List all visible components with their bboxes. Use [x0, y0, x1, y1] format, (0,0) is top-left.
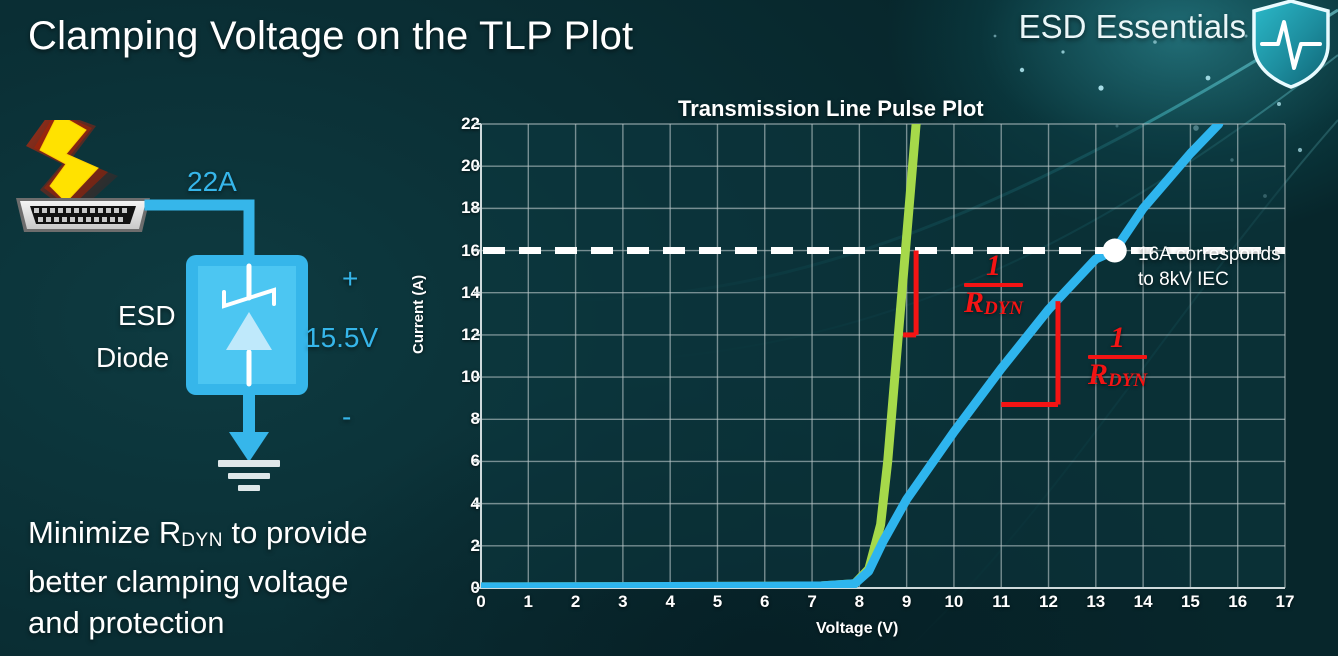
bullet-line3: and protection [28, 605, 224, 640]
slope1-den-sub: DYN [984, 298, 1023, 319]
bullet-line1-pre: Minimize R [28, 515, 181, 550]
page-title: Clamping Voltage on the TLP Plot [28, 14, 633, 59]
ground-symbol-icon [218, 460, 280, 491]
bullet-line1-post: to provide [223, 515, 368, 550]
polarity-plus-label: + [342, 263, 358, 295]
slope2-denominator: RDYN [1088, 360, 1147, 396]
chart-marker-dot [1103, 239, 1127, 263]
slide-canvas: Clamping Voltage on the TLP Plot ESD Ess… [0, 0, 1338, 656]
polarity-minus-label: - [342, 401, 351, 433]
slope1-numerator: 1 [964, 252, 1023, 280]
slope1-den-base: R [964, 286, 984, 319]
clamp-voltage-label: 15.5V [305, 322, 378, 354]
marker-note-line2: to 8kV IEC [1138, 269, 1229, 290]
brand-label: ESD Essentials [1019, 8, 1246, 46]
hdmi-connector-icon [16, 198, 150, 232]
device-label-line2: Diode [96, 342, 169, 374]
slope-annotation-2: 1 RDYN [1088, 324, 1147, 396]
slope-annotation-1: 1 RDYN [964, 252, 1023, 324]
esd-circuit-diagram: 22A ESD Diode 15.5V + - [0, 120, 420, 510]
marker-note: 16A corresponds to 8kV IEC [1138, 242, 1281, 292]
device-label-line1: ESD [118, 300, 176, 332]
plot-area [416, 92, 1338, 656]
tlp-chart: Transmission Line Pulse Plot Current (A)… [416, 92, 1338, 656]
shield-pulse-logo-icon [1248, 0, 1334, 90]
bullet-text: Minimize RDYN to provide better clamping… [28, 512, 428, 643]
slope2-den-base: R [1088, 358, 1108, 391]
surge-current-label: 22A [187, 166, 237, 198]
bullet-line1-sub: DYN [181, 530, 223, 551]
slope2-den-sub: DYN [1108, 370, 1147, 391]
ground-connection [229, 392, 269, 462]
marker-note-line1: 16A corresponds [1138, 244, 1281, 265]
slope1-denominator: RDYN [964, 288, 1023, 324]
slope2-numerator: 1 [1088, 324, 1147, 352]
bullet-line2: better clamping voltage [28, 564, 349, 599]
circuit-wiring [150, 205, 249, 260]
